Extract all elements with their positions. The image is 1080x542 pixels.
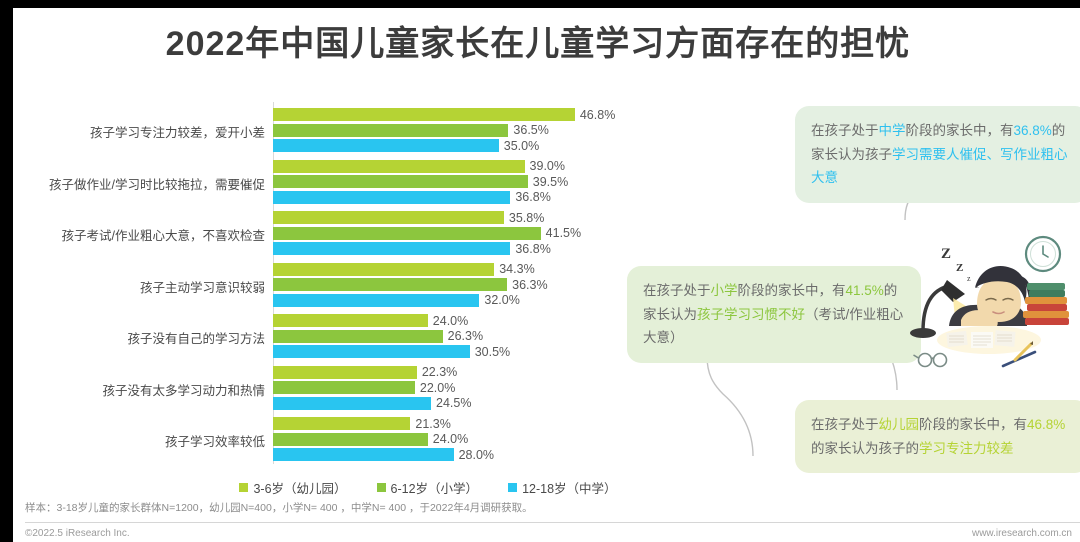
svg-text:Z: Z (956, 262, 963, 274)
bar-row: 41.5% (273, 227, 653, 240)
bar-segment (273, 211, 504, 224)
bar-segment (273, 263, 494, 276)
bar-segment (273, 448, 454, 461)
bar-segment (273, 397, 431, 410)
bar-segment (273, 227, 541, 240)
bar-segment (273, 242, 510, 255)
bar-group: 孩子学习效率较低21.3%24.0%28.0% (13, 417, 653, 461)
footer-copyright: ©2022.5 iResearch Inc. (25, 528, 130, 539)
bar-group: 孩子没有太多学习动力和热情22.3%22.0%24.5% (13, 366, 653, 410)
page-title: 2022年中国儿童家长在儿童学习方面存在的担忧 (13, 16, 1063, 65)
glasses-icon (914, 354, 947, 367)
bar-value-label: 34.3% (499, 262, 534, 276)
top-black-edge (0, 0, 1080, 8)
bar-row: 36.3% (273, 278, 653, 291)
svg-text:z: z (967, 274, 971, 283)
footer-divider (25, 522, 1080, 523)
callout-highlight: 学习专注力较差 (919, 441, 1014, 456)
bar-value-label: 26.3% (448, 329, 483, 343)
bar-value-label: 39.0% (530, 159, 565, 173)
callout-text: 阶段的家长中，有 (906, 123, 1014, 138)
bar-segment (273, 108, 575, 121)
bar-row: 32.0% (273, 294, 653, 307)
bar-group: 孩子主动学习意识较弱34.3%36.3%32.0% (13, 263, 653, 307)
left-black-edge (0, 0, 13, 542)
book-stack (1023, 283, 1069, 325)
bar-row: 30.5% (273, 345, 653, 358)
bar-row: 39.5% (273, 175, 653, 188)
bar-segment (273, 160, 525, 173)
bar-row: 35.0% (273, 139, 653, 152)
callout-text: 在孩子处于 (811, 417, 879, 432)
callout-text: 阶段的家长中，有 (919, 417, 1027, 432)
bar-segment (273, 278, 507, 291)
bar-value-label: 24.5% (436, 396, 471, 410)
bar-category-label: 孩子学习专注力较差，爱开小差 (90, 122, 265, 141)
legend-label: 6-12岁（小学） (391, 478, 479, 497)
bar-segment (273, 366, 417, 379)
legend-swatch-icon (377, 483, 386, 492)
clock-icon (1026, 237, 1060, 271)
chart-footnote: 样本：3-18岁儿童的家长群体N=1200，幼儿园N=400，小学N= 400 … (25, 500, 725, 515)
bar-value-label: 36.5% (513, 123, 548, 137)
bar-segment (273, 417, 410, 430)
bar-category-label: 孩子学习效率较低 (165, 431, 265, 450)
bar-row: 22.3% (273, 366, 653, 379)
callout-highlight: 小学 (711, 283, 738, 298)
bar-value-label: 36.8% (515, 190, 550, 204)
bar-row: 36.5% (273, 124, 653, 137)
bar-segment (273, 124, 508, 137)
callout-highlight: 孩子学习习惯不好 (697, 307, 805, 322)
bar-category-label: 孩子主动学习意识较弱 (140, 277, 265, 296)
callout-highlight: 46.8% (1027, 417, 1065, 432)
callout-highlight: 中学 (879, 123, 906, 138)
bar-value-label: 21.3% (415, 417, 450, 431)
svg-text:Z: Z (941, 246, 951, 262)
footer-website: www.iresearch.com.cn (972, 528, 1072, 539)
bar-group: 孩子没有自己的学习方法24.0%26.3%30.5% (13, 314, 653, 358)
callout-text: 的家长认为孩子的 (811, 441, 919, 456)
bar-segment (273, 314, 428, 327)
bar-value-label: 32.0% (484, 293, 519, 307)
bar-segment (273, 191, 510, 204)
bar-segment (273, 330, 443, 343)
legend-item-3[interactable]: 12-18岁（中学） (508, 478, 616, 497)
bar-value-label: 24.0% (433, 314, 468, 328)
callout-text: 阶段的家长中，有 (738, 283, 846, 298)
bar-row: 21.3% (273, 417, 653, 430)
bar-value-label: 28.0% (459, 448, 494, 462)
bar-row: 22.0% (273, 381, 653, 394)
legend-swatch-icon (239, 483, 248, 492)
bar-row: 24.0% (273, 314, 653, 327)
bar-value-label: 36.3% (512, 278, 547, 292)
paper-sheets (946, 330, 1015, 348)
bar-row: 28.0% (273, 448, 653, 461)
bar-category-label: 孩子考试/作业粗心大意，不喜欢检查 (62, 225, 265, 244)
bar-group: 孩子学习专注力较差，爱开小差46.8%36.5%35.0% (13, 108, 653, 152)
bar-segment (273, 381, 415, 394)
bar-value-label: 39.5% (533, 175, 568, 189)
bar-segment (273, 294, 479, 307)
slide-canvas: 2022年中国儿童家长在儿童学习方面存在的担忧 孩子学习专注力较差，爱开小差46… (13, 8, 1080, 542)
callout-highlight: 41.5% (846, 283, 884, 298)
bar-value-label: 46.8% (580, 108, 615, 122)
legend-item-2[interactable]: 6-12岁（小学） (377, 478, 479, 497)
bar-value-label: 35.8% (509, 211, 544, 225)
chart-legend: 3-6岁（幼儿园）6-12岁（小学）12-18岁（中学） (213, 478, 643, 497)
bar-value-label: 41.5% (546, 226, 581, 240)
sleeping-student-illustration: Z Z z z (903, 226, 1080, 401)
bar-category-label: 孩子做作业/学习时比较拖拉，需要催促 (49, 174, 265, 193)
bar-row: 36.8% (273, 242, 653, 255)
callout-text: 在孩子处于 (811, 123, 879, 138)
bar-value-label: 30.5% (475, 345, 510, 359)
bar-segment (273, 139, 499, 152)
bar-value-label: 36.8% (515, 242, 550, 256)
bar-value-label: 35.0% (504, 139, 539, 153)
bar-value-label: 22.0% (420, 381, 455, 395)
bar-segment (273, 433, 428, 446)
legend-swatch-icon (508, 483, 517, 492)
bar-group: 孩子做作业/学习时比较拖拉，需要催促39.0%39.5%36.8% (13, 160, 653, 204)
callout-middle-school: 在孩子处于中学阶段的家长中，有36.8%的家长认为孩子学习需要人催促、写作业粗心… (795, 106, 1080, 203)
legend-label: 12-18岁（中学） (522, 478, 616, 497)
bar-segment (273, 175, 528, 188)
callout-highlight: 幼儿园 (879, 417, 920, 432)
legend-item-1[interactable]: 3-6岁（幼儿园） (239, 478, 346, 497)
bar-category-label: 孩子没有太多学习动力和热情 (102, 380, 265, 399)
bar-row: 35.8% (273, 211, 653, 224)
callout-text: 在孩子处于 (643, 283, 711, 298)
bar-row: 36.8% (273, 191, 653, 204)
bar-row: 24.5% (273, 397, 653, 410)
callout-kindergarten: 在孩子处于幼儿园阶段的家长中，有46.8%的家长认为孩子的学习专注力较差 (795, 400, 1080, 473)
legend-label: 3-6岁（幼儿园） (253, 478, 346, 497)
callout-highlight: 36.8% (1014, 123, 1052, 138)
bar-value-label: 22.3% (422, 365, 457, 379)
bar-chart: 孩子学习专注力较差，爱开小差46.8%36.5%35.0%孩子做作业/学习时比较… (13, 100, 653, 472)
bar-category-label: 孩子没有自己的学习方法 (127, 328, 265, 347)
bar-row: 46.8% (273, 108, 653, 121)
bar-row: 26.3% (273, 330, 653, 343)
bar-group: 孩子考试/作业粗心大意，不喜欢检查35.8%41.5%36.8% (13, 211, 653, 255)
bar-value-label: 24.0% (433, 432, 468, 446)
bar-row: 39.0% (273, 160, 653, 173)
bar-row: 34.3% (273, 263, 653, 276)
callout-primary-school: 在孩子处于小学阶段的家长中，有41.5%的家长认为孩子学习习惯不好（考试/作业粗… (627, 266, 921, 363)
bar-segment (273, 345, 470, 358)
bar-row: 24.0% (273, 433, 653, 446)
